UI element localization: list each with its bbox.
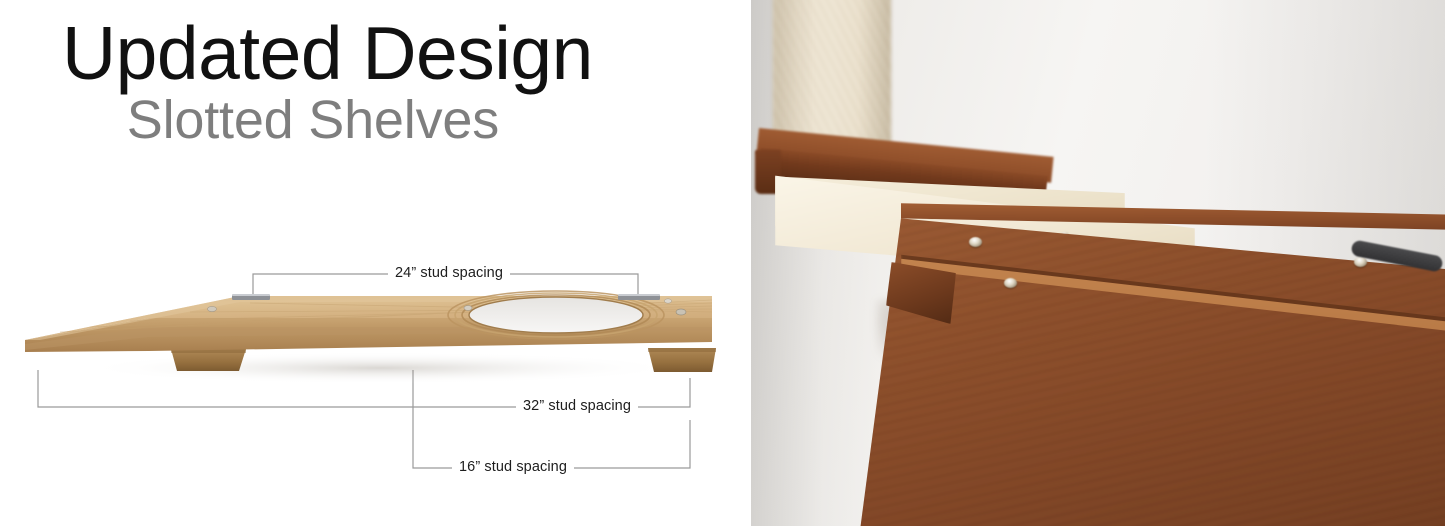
updated-design-banner: Updated Design Slotted Shelves — [0, 0, 1445, 526]
dimension-label-24: 24” stud spacing — [388, 265, 510, 281]
dimension-label-16: 16” stud spacing — [452, 459, 574, 475]
walnut-shelf-screw — [969, 237, 982, 247]
bamboo-shelf-illustration — [0, 0, 751, 526]
left-info-panel: Updated Design Slotted Shelves — [0, 0, 751, 526]
walnut-shelf-screw — [1354, 257, 1367, 267]
product-photo-panel — [751, 0, 1445, 526]
shelf-drop-shadow — [80, 352, 680, 384]
walnut-shelf-screw — [1004, 278, 1017, 288]
bamboo-shelf-svg — [0, 0, 751, 526]
shelf-dimension-diagram: 24” stud spacing 32” stud spacing 16” st… — [0, 0, 751, 526]
dimension-label-32: 32” stud spacing — [516, 398, 638, 414]
